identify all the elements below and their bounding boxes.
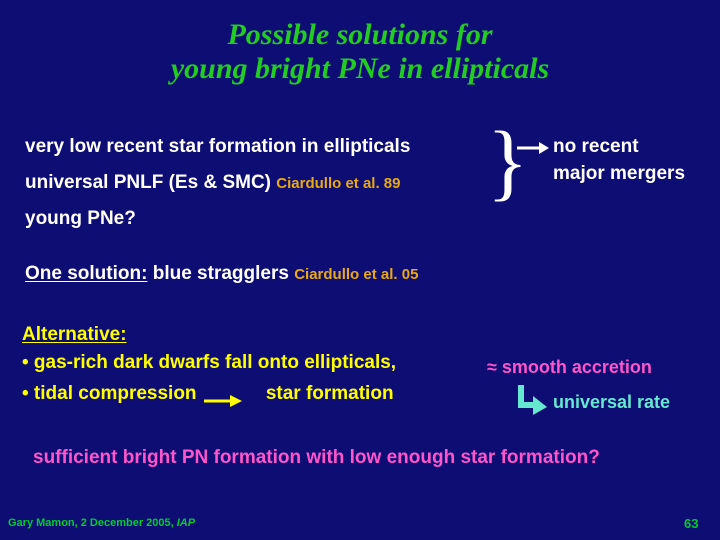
block1-line-3: young PNe? [25,208,136,230]
footer-author-date: Gary Mamon, 2 December 2005, [8,517,177,529]
page-number: 63 [684,516,698,531]
block1-line-2: universal PNLF (Es & SMC) Ciardullo et a… [25,172,401,194]
presentation-slide: Possible solutions for young bright PNe … [0,0,720,540]
block4-conclusion: sufficient bright PN formation with low … [33,447,600,469]
block3-bullet-2-part-a: • tidal compression [22,383,197,404]
block3-heading: Alternative: [22,324,127,346]
footer-credit: Gary Mamon, 2 December 2005, IAP [8,517,195,529]
right-arrow-icon-yellow [204,394,242,408]
block2-label: One solution: [25,263,147,284]
block2-text: blue stragglers [147,263,294,284]
elbow-down-right-arrow-icon [516,383,550,417]
block3-annotation-smooth-accretion: ≈ smooth accretion [487,357,652,378]
slide-title: Possible solutions for young bright PNe … [0,18,720,86]
block2-citation: Ciardullo et al. 05 [294,266,418,283]
block3-bullet-1: • gas-rich dark dwarfs fall onto ellipti… [22,352,396,374]
block1-line-1: very low recent star formation in ellipt… [25,136,410,158]
curly-brace-icon: } [487,118,528,204]
block3-bullet-2-part-b: star formation [266,383,394,404]
block2-one-solution: One solution: blue stragglers Ciardullo … [25,263,418,285]
block3-annotation-universal-rate: universal rate [553,392,670,413]
block1-line-2-text: universal PNLF (Es & SMC) [25,172,276,193]
footer-venue: IAP [177,517,195,529]
block1-result-line-2: major mergers [553,163,685,185]
right-arrow-icon [517,140,549,156]
block1-citation: Ciardullo et al. 89 [276,175,400,192]
block1-result-line-1: no recent [553,136,639,158]
slide-title-line-1: Possible solutions for [0,18,720,52]
slide-title-line-2: young bright PNe in ellipticals [0,52,720,86]
